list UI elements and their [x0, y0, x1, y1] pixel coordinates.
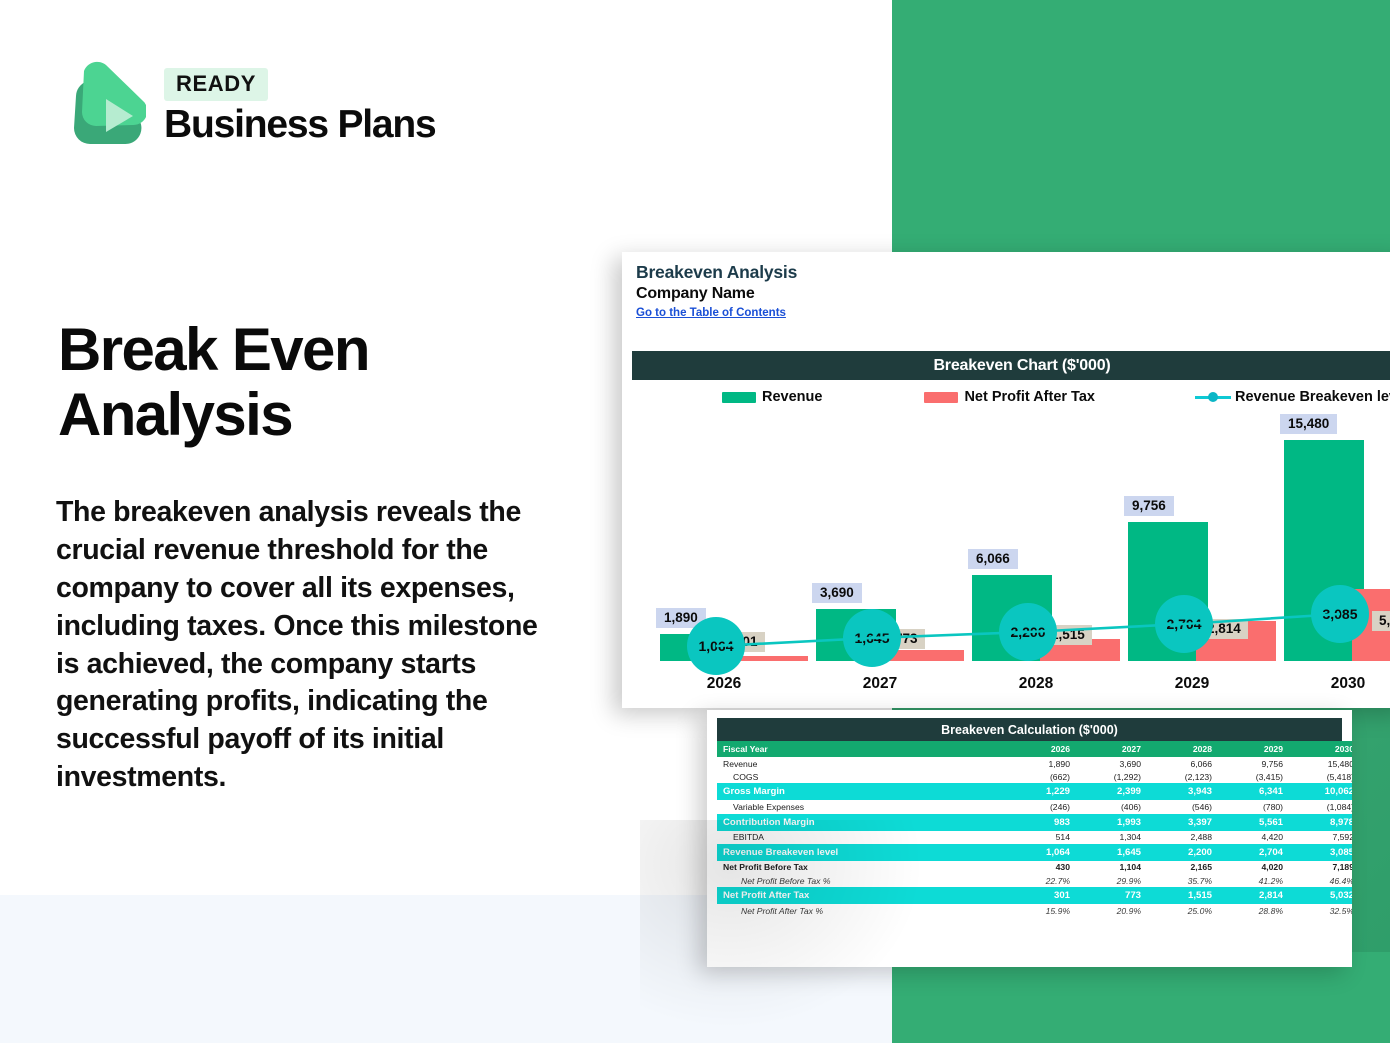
chart-legend: Revenue Net Profit After Tax Revenue Bre…: [632, 384, 1390, 410]
table-cell-2027: 29.9%: [1078, 874, 1149, 887]
table-cell-2026: 430: [1007, 861, 1078, 874]
table-cell-2026: 22.7%: [1007, 874, 1078, 887]
chart-plot-area: 1,890 301 1,064 3,690 773 1,645 6,066 1,…: [632, 420, 1390, 705]
ready-badge: READY: [164, 68, 268, 101]
x-tick-2029: 2029: [1114, 675, 1270, 693]
table-cell-2028: (546): [1149, 800, 1220, 813]
sheet-header: Breakeven Analysis Company Name Go to th…: [622, 252, 1390, 344]
table-cell-2030: 32.5%: [1291, 904, 1352, 917]
table-cell-2029: 28.8%: [1220, 904, 1291, 917]
table-row-label: Contribution Margin: [717, 814, 1007, 831]
table-cell-2030: 7,189: [1291, 861, 1352, 874]
table-row-label: Variable Expenses: [717, 800, 1007, 813]
table-cell-2030: 7,592: [1291, 831, 1352, 844]
sheet-title: Breakeven Analysis: [636, 262, 1390, 283]
table-cell-2028: 6,066: [1149, 757, 1220, 770]
table-cell-2029: 5,561: [1220, 814, 1291, 831]
table-cell-2029: 2,704: [1220, 844, 1291, 861]
table-cell-2030: 8,978: [1291, 814, 1352, 831]
table-row-label: Revenue Breakeven level: [717, 844, 1007, 861]
table-cell-2028: 35.7%: [1149, 874, 1220, 887]
table-title-banner: Breakeven Calculation ($'000): [717, 718, 1342, 741]
table-cell-2026: 15.9%: [1007, 904, 1078, 917]
table-of-contents-link[interactable]: Go to the Table of Contents: [636, 307, 786, 319]
table-cell-2029: 4,420: [1220, 831, 1291, 844]
table-header-fiscal-year: Fiscal Year: [717, 741, 1007, 757]
table-cell-2030: 3,085: [1291, 844, 1352, 861]
table-row-label: Net Profit Before Tax: [717, 861, 1007, 874]
x-tick-2027: 2027: [802, 675, 958, 693]
table-row-label: Gross Margin: [717, 783, 1007, 800]
table-cell-2027: 3,690: [1078, 757, 1149, 770]
page-title: Break Even Analysis: [58, 318, 578, 448]
table-cell-2030: 46.4%: [1291, 874, 1352, 887]
table-cell-2026: 1,229: [1007, 783, 1078, 800]
table-cell-2026: 1,064: [1007, 844, 1078, 861]
table-header-year-2030: 2030: [1291, 741, 1352, 757]
x-tick-2026: 2026: [646, 675, 802, 693]
table-cell-2030: 15,480: [1291, 757, 1352, 770]
brand-name: Business Plans: [164, 105, 436, 144]
table-header-row: Fiscal Year20262027202820292030: [717, 741, 1352, 757]
table-cell-2030: 10,062: [1291, 783, 1352, 800]
table-cell-2026: (662): [1007, 770, 1078, 783]
table-cell-2028: 2,200: [1149, 844, 1220, 861]
body-paragraph: The breakeven analysis reveals the cruci…: [56, 494, 548, 797]
breakeven-calculation-card: Breakeven Calculation ($'000) Fiscal Yea…: [707, 710, 1352, 967]
table-row: Variable Expenses(246)(406)(546)(780)(1,…: [717, 800, 1352, 813]
legend-label-net-profit-after-tax: Net Profit After Tax: [964, 389, 1095, 405]
table-cell-2028: 3,943: [1149, 783, 1220, 800]
table-row-label: EBITDA: [717, 831, 1007, 844]
breakeven-calculation-table: Fiscal Year20262027202820292030Revenue1,…: [717, 741, 1352, 917]
x-tick-2030: 2030: [1270, 675, 1390, 693]
table-row: EBITDA5141,3042,4884,4207,592: [717, 831, 1352, 844]
table-row-label: Net Profit After Tax %: [717, 904, 1007, 917]
legend-swatch-npat-icon: [924, 392, 958, 403]
company-name: Company Name: [636, 285, 1390, 303]
table-row: Revenue Breakeven level1,0641,6452,2002,…: [717, 844, 1352, 861]
table-header-year-2026: 2026: [1007, 741, 1078, 757]
table-cell-2029: 9,756: [1220, 757, 1291, 770]
legend-line-marker-icon: [1195, 391, 1231, 403]
legend-item-net-profit-after-tax: Net Profit After Tax: [924, 389, 1095, 405]
table-cell-2027: 773: [1078, 887, 1149, 904]
table-cell-2029: (780): [1220, 800, 1291, 813]
table-row: Net Profit Before Tax %22.7%29.9%35.7%41…: [717, 874, 1352, 887]
table-header-year-2029: 2029: [1220, 741, 1291, 757]
table-header-year-2028: 2028: [1149, 741, 1220, 757]
table-row-label: Net Profit After Tax: [717, 887, 1007, 904]
chart-x-axis: 2026 2027 2028 2029 2030: [632, 675, 1390, 699]
play-triangle-icon: [58, 58, 146, 162]
table-cell-2028: (2,123): [1149, 770, 1220, 783]
chart-title-banner: Breakeven Chart ($'000): [632, 351, 1390, 380]
table-row: Net Profit Before Tax4301,1042,1654,0207…: [717, 861, 1352, 874]
table-cell-2028: 2,165: [1149, 861, 1220, 874]
table-row: Gross Margin1,2292,3993,9436,34110,062: [717, 783, 1352, 800]
table-cell-2029: 41.2%: [1220, 874, 1291, 887]
table-cell-2026: 301: [1007, 887, 1078, 904]
breakeven-chart-card: Breakeven Analysis Company Name Go to th…: [622, 252, 1390, 708]
table-header-year-2027: 2027: [1078, 741, 1149, 757]
table-cell-2028: 2,488: [1149, 831, 1220, 844]
table-cell-2026: (246): [1007, 800, 1078, 813]
table-cell-2027: 1,104: [1078, 861, 1149, 874]
table-cell-2028: 3,397: [1149, 814, 1220, 831]
legend-label-revenue-breakeven-level: Revenue Breakeven level: [1235, 389, 1390, 405]
table-cell-2027: 1,645: [1078, 844, 1149, 861]
table-cell-2027: 1,304: [1078, 831, 1149, 844]
table-cell-2029: 2,814: [1220, 887, 1291, 904]
brand-wordmark: READY Business Plans: [164, 58, 436, 144]
x-tick-2028: 2028: [958, 675, 1114, 693]
table-row: Net Profit After Tax3017731,5152,8145,03…: [717, 887, 1352, 904]
table-cell-2027: 2,399: [1078, 783, 1149, 800]
table-cell-2028: 1,515: [1149, 887, 1220, 904]
table-cell-2027: 20.9%: [1078, 904, 1149, 917]
table-row: Net Profit After Tax %15.9%20.9%25.0%28.…: [717, 904, 1352, 917]
table-cell-2030: 5,032: [1291, 887, 1352, 904]
table-cell-2029: (3,415): [1220, 770, 1291, 783]
legend-label-revenue: Revenue: [762, 389, 822, 405]
table-cell-2027: (1,292): [1078, 770, 1149, 783]
table-row-label: Revenue: [717, 757, 1007, 770]
table-cell-2028: 25.0%: [1149, 904, 1220, 917]
brand-logo: READY Business Plans: [58, 58, 436, 162]
table-cell-2026: 983: [1007, 814, 1078, 831]
table-cell-2026: 514: [1007, 831, 1078, 844]
table-cell-2030: (5,418): [1291, 770, 1352, 783]
legend-item-revenue: Revenue: [722, 389, 822, 405]
legend-swatch-revenue-icon: [722, 392, 756, 403]
table-cell-2027: (406): [1078, 800, 1149, 813]
table-row: COGS(662)(1,292)(2,123)(3,415)(5,418): [717, 770, 1352, 783]
table-cell-2029: 6,341: [1220, 783, 1291, 800]
table-cell-2029: 4,020: [1220, 861, 1291, 874]
table-cell-2026: 1,890: [1007, 757, 1078, 770]
table-row: Contribution Margin9831,9933,3975,5618,9…: [717, 814, 1352, 831]
table-cell-2027: 1,993: [1078, 814, 1149, 831]
table-row-label: COGS: [717, 770, 1007, 783]
background-panel-top-right: [892, 0, 1390, 260]
legend-item-revenue-breakeven-level: Revenue Breakeven level: [1195, 389, 1390, 405]
slide-canvas: READY Business Plans Break Even Analysis…: [0, 0, 1390, 1043]
table-cell-2030: (1,084): [1291, 800, 1352, 813]
breakeven-level-line: [632, 420, 1390, 705]
table-row-label: Net Profit Before Tax %: [717, 874, 1007, 887]
table-row: Revenue1,8903,6906,0669,75615,480: [717, 757, 1352, 770]
